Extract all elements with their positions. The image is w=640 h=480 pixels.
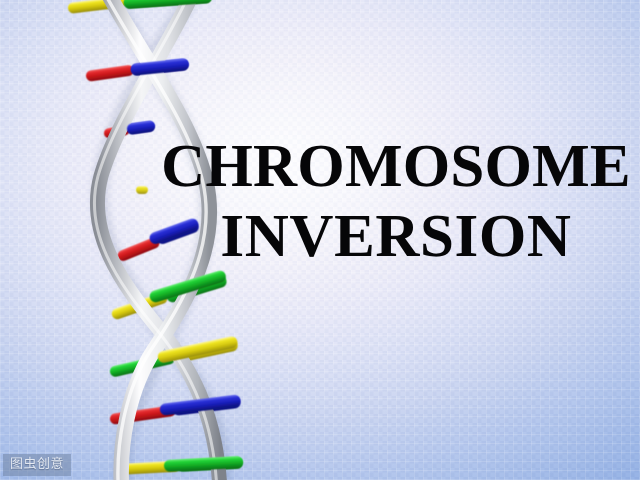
title-line-1: CHROMOSOME [152, 137, 640, 197]
slide-canvas: CHROMOSOME INVERSION 图虫创意 [0, 0, 640, 480]
base-pair-4 [136, 186, 148, 194]
slide-title: CHROMOSOME INVERSION [152, 137, 640, 268]
title-line-2: INVERSION [152, 207, 640, 267]
watermark-label: 图虫创意 [3, 454, 71, 476]
